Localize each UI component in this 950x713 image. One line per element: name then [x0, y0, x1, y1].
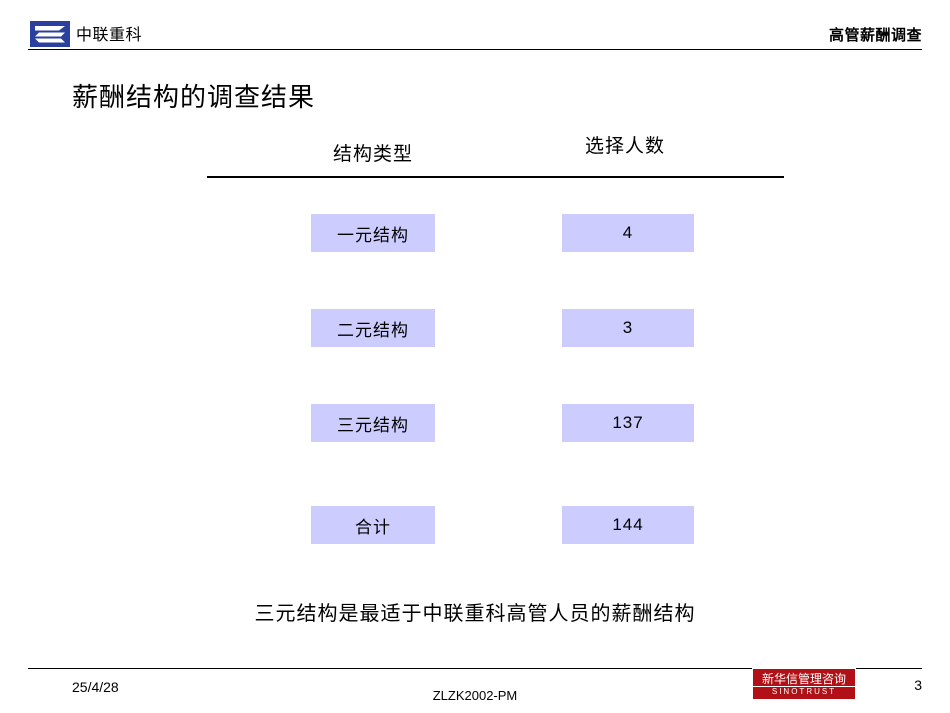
zoomlion-logo-icon — [30, 21, 70, 47]
table-row: 4 — [562, 214, 694, 252]
header-divider — [28, 49, 922, 50]
sinotrust-logo-en: SINOTRUST — [753, 686, 855, 697]
sinotrust-logo-icon: 新华信管理咨询 SINOTRUST — [752, 668, 856, 700]
company-name: 中联重科 — [76, 26, 142, 46]
table-row: 3 — [562, 309, 694, 347]
table-row: 144 — [562, 506, 694, 544]
table-header-divider — [207, 176, 784, 178]
column-header-type: 结构类型 — [283, 142, 463, 168]
table-row: 137 — [562, 404, 694, 442]
sinotrust-logo-cn: 新华信管理咨询 — [762, 672, 846, 686]
page-title: 薪酬结构的调查结果 — [72, 80, 315, 114]
column-header-count: 选择人数 — [535, 134, 715, 160]
table-row: 二元结构 — [311, 309, 435, 347]
conclusion-text: 三元结构是最适于中联重科高管人员的薪酬结构 — [0, 600, 950, 628]
table-row: 三元结构 — [311, 404, 435, 442]
footer-page-number: 3 — [914, 676, 922, 694]
slide: 中联重科 高管薪酬调查 薪酬结构的调查结果 结构类型 选择人数 一元结构 4 二… — [0, 0, 950, 713]
header-right-title: 高管薪酬调查 — [829, 26, 922, 46]
slide-header: 中联重科 高管薪酬调查 — [0, 0, 950, 50]
table-row: 一元结构 — [311, 214, 435, 252]
table-row: 合计 — [311, 506, 435, 544]
